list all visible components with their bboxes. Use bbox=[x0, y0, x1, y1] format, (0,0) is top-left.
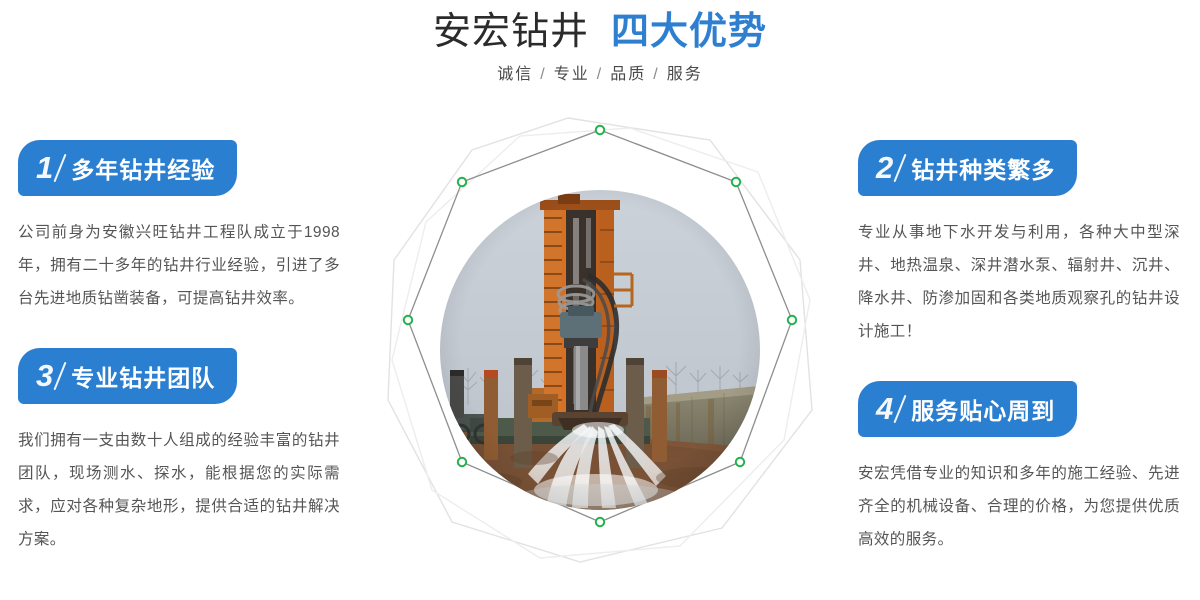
vertex-marker-w bbox=[404, 316, 412, 324]
promo-banner: 安宏钻井四大优势 诚信/专业/品质/服务 1 多年钻井经验 公司前身为安徽兴旺钻… bbox=[0, 0, 1200, 600]
subtitle-separator-1: / bbox=[597, 66, 603, 83]
vertex-marker-ne bbox=[732, 178, 740, 186]
subtitle-tagline: 诚信/专业/品质/服务 bbox=[0, 63, 1200, 87]
subtitle-item-1: 专业 bbox=[554, 66, 590, 83]
slash-icon bbox=[894, 154, 907, 183]
vertex-marker-sw bbox=[458, 458, 466, 466]
feature-badge-4: 4 服务贴心周到 bbox=[858, 381, 1077, 437]
vertex-marker-e bbox=[788, 316, 796, 324]
feature-badge-3: 3 专业钻井团队 bbox=[18, 348, 237, 404]
feature-body-4: 安宏凭借专业的知识和多年的施工经验、先进齐全的机械设备、合理的价格，为您提供优质… bbox=[858, 457, 1180, 556]
subtitle-item-3: 服务 bbox=[667, 66, 703, 83]
page-title: 安宏钻井四大优势 bbox=[0, 9, 1200, 55]
vertex-marker-n bbox=[596, 126, 604, 134]
slash-icon bbox=[54, 154, 67, 183]
subtitle-separator-0: / bbox=[540, 66, 546, 83]
feature-number-2: 2 bbox=[876, 152, 893, 183]
feature-card-2: 2 钻井种类繁多 专业从事地下水开发与利用，各种大中型深井、地热温泉、深井潜水泵… bbox=[858, 140, 1198, 348]
center-photo bbox=[440, 190, 760, 510]
feature-card-3: 3 专业钻井团队 我们拥有一支由数十人组成的经验丰富的钻井团队，现场测水、探水，… bbox=[18, 348, 358, 556]
header: 安宏钻井四大优势 诚信/专业/品质/服务 bbox=[0, 0, 1200, 105]
feature-number-3: 3 bbox=[36, 360, 53, 391]
feature-number-4: 4 bbox=[876, 393, 893, 424]
slash-icon bbox=[54, 362, 67, 391]
subtitle-item-0: 诚信 bbox=[497, 66, 533, 83]
subtitle-item-2: 品质 bbox=[610, 66, 646, 83]
feature-title-3: 专业钻井团队 bbox=[71, 359, 215, 393]
feature-column-left: 1 多年钻井经验 公司前身为安徽兴旺钻井工程队成立于1998年，拥有二十多年的钻… bbox=[18, 140, 358, 556]
feature-badge-1: 1 多年钻井经验 bbox=[18, 140, 237, 196]
feature-card-1: 1 多年钻井经验 公司前身为安徽兴旺钻井工程队成立于1998年，拥有二十多年的钻… bbox=[18, 140, 358, 315]
page-title-main: 安宏钻井 bbox=[433, 11, 589, 53]
feature-badge-2: 2 钻井种类繁多 bbox=[858, 140, 1077, 196]
feature-card-4: 4 服务贴心周到 安宏凭借专业的知识和多年的施工经验、先进齐全的机械设备、合理的… bbox=[858, 381, 1198, 556]
page-title-accent: 四大优势 bbox=[611, 11, 767, 53]
vertex-marker-nw bbox=[458, 178, 466, 186]
subtitle-separator-2: / bbox=[653, 66, 659, 83]
feature-title-2: 钻井种类繁多 bbox=[911, 151, 1055, 185]
vertex-marker-se bbox=[736, 458, 744, 466]
slash-icon bbox=[894, 395, 907, 424]
vertex-marker-s bbox=[596, 518, 604, 526]
feature-title-4: 服务贴心周到 bbox=[911, 392, 1055, 426]
feature-title-1: 多年钻井经验 bbox=[71, 151, 215, 185]
feature-number-1: 1 bbox=[36, 152, 53, 183]
feature-column-right: 2 钻井种类繁多 专业从事地下水开发与利用，各种大中型深井、地热温泉、深井潜水泵… bbox=[858, 140, 1198, 556]
drilling-rig-photo bbox=[440, 190, 760, 510]
feature-body-2: 专业从事地下水开发与利用，各种大中型深井、地热温泉、深井潜水泵、辐射井、沉井、降… bbox=[858, 216, 1180, 348]
feature-body-1: 公司前身为安徽兴旺钻井工程队成立于1998年，拥有二十多年的钻井行业经验，引进了… bbox=[18, 216, 340, 315]
feature-body-3: 我们拥有一支由数十人组成的经验丰富的钻井团队，现场测水、探水，能根据您的实际需求… bbox=[18, 424, 340, 556]
